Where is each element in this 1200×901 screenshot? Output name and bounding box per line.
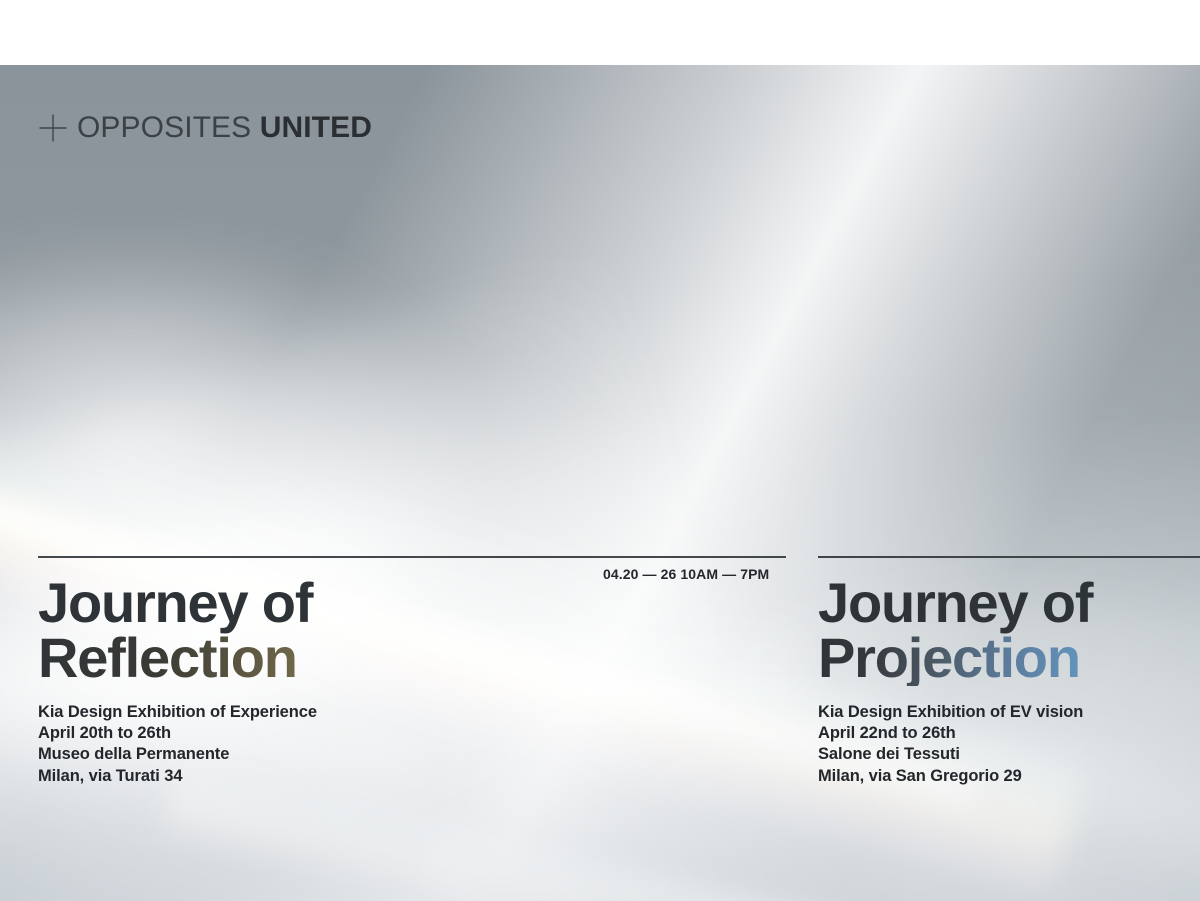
schedule-caption: 04.20 — 26 10AM — 7PM bbox=[603, 566, 769, 582]
detail-line: April 22nd to 26th bbox=[818, 723, 1200, 744]
brand-word-united: UNITED bbox=[251, 111, 372, 144]
title-line-reflection: Reflection bbox=[38, 631, 786, 686]
exhibition-block-projection: Journey of Projection Kia Design Exhibit… bbox=[818, 556, 1200, 787]
detail-line: Kia Design Exhibition of EV vision bbox=[818, 702, 1200, 723]
title-line-journey-of-right: Journey of bbox=[818, 576, 1200, 631]
detail-line: April 20th to 26th bbox=[38, 723, 786, 744]
exhibition-details-reflection: Kia Design Exhibition of Experience Apri… bbox=[38, 702, 786, 787]
detail-line: Milan, via Turati 34 bbox=[38, 766, 786, 787]
brand-wordmark: OPPOSITES UNITED bbox=[77, 113, 372, 143]
exhibition-block-reflection: Journey of Reflection Kia Design Exhibit… bbox=[38, 556, 786, 787]
title-line-journey-of-left: Journey of bbox=[38, 576, 786, 631]
poster-content: OPPOSITES UNITED Journey of Reflection K… bbox=[0, 0, 1200, 901]
poster-canvas: OPPOSITES UNITED Journey of Reflection K… bbox=[0, 0, 1200, 901]
brand-word-opposites: OPPOSITES bbox=[77, 111, 251, 144]
divider-rule-right bbox=[818, 556, 1200, 558]
detail-line: Museo della Permanente bbox=[38, 744, 786, 765]
divider-rule-left bbox=[38, 556, 786, 558]
exhibition-title-reflection: Journey of Reflection bbox=[38, 576, 786, 686]
top-white-band bbox=[0, 0, 1200, 65]
exhibition-title-projection: Journey of Projection bbox=[818, 576, 1200, 686]
exhibition-details-projection: Kia Design Exhibition of EV vision April… bbox=[818, 702, 1200, 787]
detail-line: Kia Design Exhibition of Experience bbox=[38, 702, 786, 723]
title-line-projection: Projection bbox=[818, 631, 1200, 686]
detail-line: Salone dei Tessuti bbox=[818, 744, 1200, 765]
plus-icon bbox=[38, 113, 68, 143]
detail-line: Milan, via San Gregorio 29 bbox=[818, 766, 1200, 787]
brand-lockup: OPPOSITES UNITED bbox=[38, 113, 372, 143]
